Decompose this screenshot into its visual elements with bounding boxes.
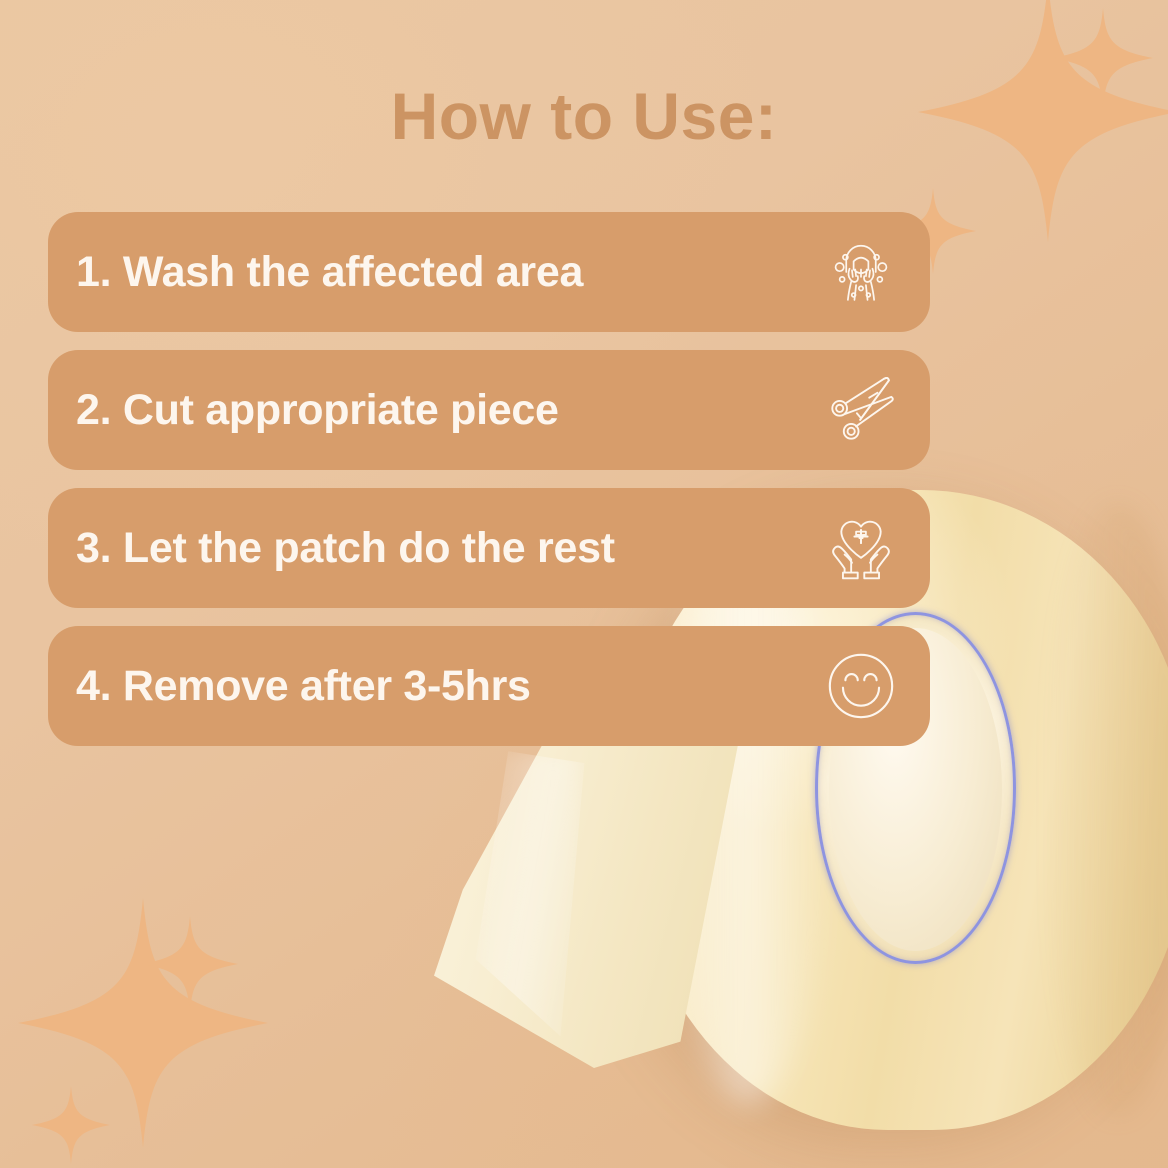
tape-strip-image <box>418 738 738 1068</box>
step-item-4[interactable]: 4. Remove after 3-5hrs <box>48 626 930 746</box>
step-item-2[interactable]: 2. Cut appropriate piece <box>48 350 930 470</box>
poster-canvas: How to Use: 1. Wash the affected area <box>0 0 1168 1168</box>
tape-strip-shape <box>418 738 738 1068</box>
how-to-use-steps-list: 1. Wash the affected area <box>48 212 930 746</box>
step-label-3: 3. Let the patch do the rest <box>76 524 818 573</box>
four-point-star-small-icon <box>32 1086 110 1164</box>
step-label-2: 2. Cut appropriate piece <box>76 386 818 435</box>
smiley-face-icon <box>818 643 904 729</box>
four-point-star-medium-icon <box>142 916 238 1012</box>
step-label-4: 4. Remove after 3-5hrs <box>76 662 818 711</box>
wash-hands-face-icon <box>818 229 904 315</box>
scissors-icon <box>818 367 904 453</box>
tape-strip-highlight <box>476 751 585 1048</box>
page-title: How to Use: <box>0 78 1168 154</box>
step-item-3[interactable]: 3. Let the patch do the rest <box>48 488 930 608</box>
sparkle-cluster-bottom-left <box>0 868 300 1168</box>
four-point-star-large-icon <box>18 898 268 1148</box>
heart-in-hands-icon <box>818 505 904 591</box>
tape-roll-edge-shadow <box>1044 503 1168 1117</box>
step-label-1: 1. Wash the affected area <box>76 248 818 297</box>
step-item-1[interactable]: 1. Wash the affected area <box>48 212 930 332</box>
